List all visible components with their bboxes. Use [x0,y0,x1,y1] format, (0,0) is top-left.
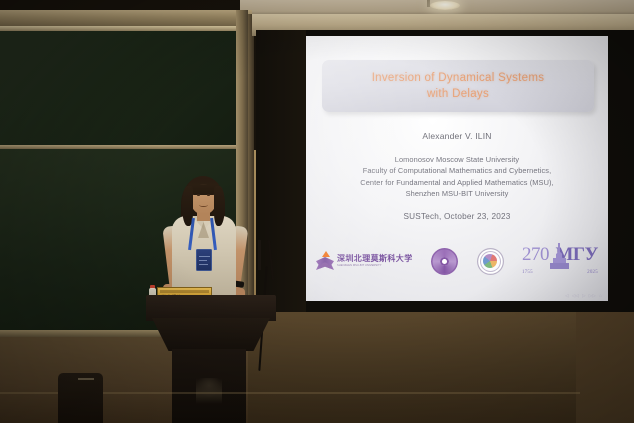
msu-270-anniversary-logo: 270 МГУ 1755 2025 [522,246,598,276]
ceiling-lamp-icon [430,1,460,10]
trash-bin [58,373,103,423]
trash-bin-slot [78,378,94,380]
slide-affiliation: Lomonosov Moscow State University Facult… [306,154,608,200]
conference-badge [196,249,212,271]
smbu-english-name: SHENZHEN MSU-BIT UNIVERSITY [337,264,413,267]
presentation-slide: Inversion of Dynamical Systems with Dela… [306,36,608,301]
speaker-smile [199,203,208,207]
slide-logo-row: 深圳北理莫斯科大学 SHENZHEN MSU-BIT UNIVERSITY 27… [316,241,598,281]
speaker-eye-right [207,194,210,196]
chalkboard-top-rail [0,10,252,26]
slide-title-box: Inversion of Dynamical Systems with Dela… [322,60,594,112]
affiliation-line: Faculty of Computational Mathematics and… [306,165,608,176]
smbu-wordmark: 深圳北理莫斯科大学 SHENZHEN MSU-BIT UNIVERSITY [337,255,413,267]
fundamental-mathematics-center-seal [477,248,504,275]
msu-270-row: 270 МГУ [522,246,598,268]
speaker-hair-right [214,186,225,226]
slide-title-line-1: Inversion of Dynamical Systems [372,71,545,85]
speaker-eye-left [197,194,200,196]
podium-body [152,318,270,351]
msu-year-from: 1755 [522,270,533,275]
wings-icon [316,257,334,270]
affiliation-line: Center for Fundamental and Applied Mathe… [306,177,608,188]
msu-270-number: 270 [522,246,549,264]
nav-prev-icon[interactable]: ◁ [565,293,569,299]
badge-text-line [199,256,210,257]
nav-next-icon[interactable]: ▷ [582,293,586,299]
affiliation-line: Shenzhen MSU-BIT University [306,188,608,199]
msu-cmc-faculty-logo [431,248,458,275]
badge-text-line [199,260,207,261]
msu-tower-icon [550,246,555,270]
projection-screen-dark-margin [256,30,306,312]
nav-home-icon[interactable]: ⌂ [599,293,602,299]
star-icon [322,251,330,257]
tower-base [550,263,569,269]
chalkboard-highlight-rail [0,26,252,31]
shenzhen-msu-bit-university-logo: 深圳北理莫斯科大学 SHENZHEN MSU-BIT UNIVERSITY [316,252,413,270]
affiliation-line: Lomonosov Moscow State University [306,154,608,165]
chalkboard-right-shadow [248,14,254,334]
msu-anniversary-dates: 1755 2025 [522,270,598,275]
microphone-stand [258,240,261,270]
nav-first-icon[interactable]: ◁◁ [572,293,579,299]
slide-venue: SUSTech, October 23, 2023 [306,212,608,221]
msu-year-to: 2025 [587,270,598,275]
slide-author: Alexander V. ILIN [306,131,608,141]
smbu-chinese-name: 深圳北理莫斯科大学 [337,255,413,263]
nav-last-icon[interactable]: ▷▷ [589,293,596,299]
lecture-hall-photo: Inversion of Dynamical Systems with Dela… [0,0,634,423]
smbu-emblem-icon [316,252,334,270]
chalkboard-upper-panel [0,31,248,145]
badge-text-line [199,264,208,265]
nameplate-strip [160,290,209,293]
slide-title-line-2: with Delays [427,87,489,101]
podium-top [146,295,276,321]
beamer-navigation-bar[interactable]: ◁ ◁◁ ▷ ▷▷ ⌂ [565,293,602,299]
tower-spire [558,243,559,252]
